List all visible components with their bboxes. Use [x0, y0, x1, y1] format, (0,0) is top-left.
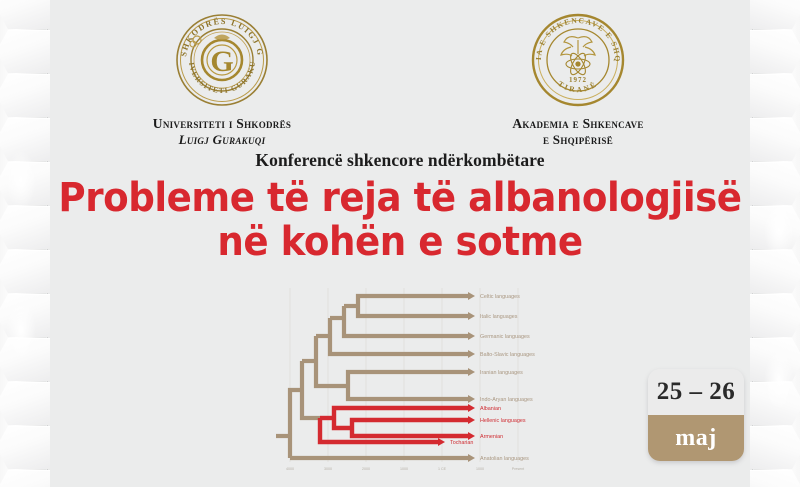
border-highlight [764, 350, 794, 410]
university-name: Universiteti i Shkodrës Luigj Gurakuqi [112, 116, 332, 147]
leaf-label: Balto-Slavic languages [480, 352, 535, 358]
leaf-label: Iranian languages [480, 370, 523, 376]
page-title: Probleme të reja të albanologjisë në koh… [28, 176, 772, 264]
leaf-label: Anatolian languages [480, 456, 529, 462]
hex-tile [750, 294, 800, 337]
organizer-academy-of-sciences: AKADEMIA E SHKENCAVE E SHQIPËRISË TIRANË [468, 8, 688, 147]
axis-tick: 1000 [400, 467, 408, 471]
academy-seal-icon: AKADEMIA E SHKENCAVE E SHQIPËRISË TIRANË [526, 8, 630, 112]
conference-kicker: Konferencë shkencore ndërkombëtare [0, 150, 800, 171]
tree-branches-red [320, 408, 468, 442]
axis-tick: 1000 [476, 467, 484, 471]
hex-tile [750, 470, 800, 487]
conference-poster: SHKODRËS LUIGJ G UNIVERSITETI GURAKUQI G… [0, 0, 800, 487]
date-badge: 25 – 26 maj [648, 369, 744, 461]
organizer-university-of-shkoder: SHKODRËS LUIGJ G UNIVERSITETI GURAKUQI G… [112, 8, 332, 147]
hex-tile [0, 426, 50, 469]
academy-name-line1: Akademia e Shkencave [468, 116, 688, 132]
university-name-line1: Universiteti i Shkodrës [112, 116, 332, 132]
leaf-label: Germanic languages [480, 334, 530, 340]
organizer-logos: SHKODRËS LUIGJ G UNIVERSITETI GURAKUQI G… [0, 8, 800, 148]
page-title-line2: në kohën e sotme [28, 220, 772, 264]
leaf-label: Hellenic languages [480, 418, 526, 424]
leaf-label: Armenian [480, 434, 503, 440]
language-family-tree-chart: Celtic languages Italic languages German… [276, 286, 576, 478]
date-month: maj [648, 415, 744, 461]
leaf-label: Tocharian [450, 440, 473, 446]
svg-text:1972: 1972 [569, 76, 587, 84]
hex-tile [0, 382, 50, 425]
axis-tick: 4000 [286, 467, 294, 471]
svg-text:G: G [210, 45, 233, 78]
chart-axis-ticks: 4000 3000 2000 1000 1 CE 1000 Present [286, 467, 524, 471]
academy-name: Akademia e Shkencave e Shqipërisë [468, 116, 688, 147]
hex-tile [0, 470, 50, 487]
page-title-line1: Probleme të reja të albanologjisë [28, 176, 772, 220]
axis-tick: 2000 [362, 467, 370, 471]
border-highlight [6, 300, 36, 360]
hex-tile [750, 426, 800, 469]
axis-tick: 3000 [324, 467, 332, 471]
university-seal-icon: SHKODRËS LUIGJ G UNIVERSITETI GURAKUQI G [170, 8, 274, 112]
axis-tick: Present [512, 467, 524, 471]
academy-name-line2: e Shqipërisë [468, 132, 688, 147]
leaf-label: Italic languages [480, 314, 518, 320]
axis-tick: 1 CE [438, 467, 447, 471]
leaf-label: Indo-Aryan languages [480, 397, 533, 403]
leaf-label: Celtic languages [480, 294, 520, 300]
university-name-line2: Luigj Gurakuqi [112, 132, 332, 147]
date-days: 25 – 26 [648, 369, 744, 415]
leaf-label: Albanian [480, 406, 501, 412]
tree-branches-tan [276, 296, 468, 458]
